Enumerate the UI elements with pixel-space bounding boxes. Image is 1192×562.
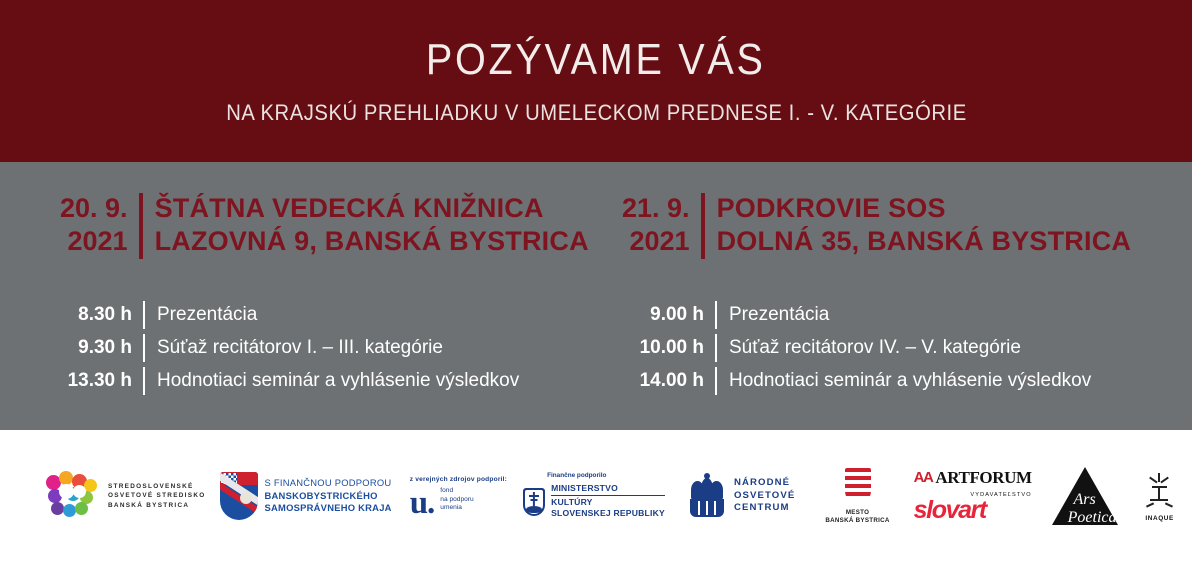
schedule-row: 13.30 h Hodnotiaci seminár a vyhlásenie … (60, 364, 519, 397)
bbsk-line2: BANSKOBYSTRICKÉHO (265, 490, 392, 503)
mksr-line2: KULTÚRY (551, 495, 665, 509)
bbsk-coat-of-arms-icon (220, 472, 258, 520)
header-band: POZÝVAME VÁS NA KRAJSKÚ PREHLIADKU V UME… (0, 0, 1192, 162)
venue: PODKROVIE SOS DOLNÁ 35, BANSKÁ BYSTRICA (717, 192, 1132, 258)
schedule-time: 9.00 h (622, 305, 704, 324)
ssos-line1: STREDOSLOVENSKÉ (108, 482, 206, 492)
venue: ŠTÁTNA VEDECKÁ KNIŽNICA LAZOVNÁ 9, BANSK… (155, 192, 589, 258)
artforum-lockup: AA ARTFORUM (914, 469, 1032, 486)
bbsk-line3: SAMOSPRÁVNEHO KRAJA (265, 502, 392, 515)
schedule-divider (143, 334, 145, 362)
slovak-coat-of-arms-icon (523, 488, 545, 516)
date-divider (139, 193, 143, 259)
schedule-band: 20. 9. 2021 ŠTÁTNA VEDECKÁ KNIŽNICA LAZO… (0, 162, 1192, 430)
footer-band: STREDOSLOVENSKÉ OSVETOVÉ STREDISKO BANSK… (0, 430, 1192, 562)
poster-root: POZÝVAME VÁS NA KRAJSKÚ PREHLIADKU V UME… (0, 0, 1192, 562)
schedule-divider (715, 367, 717, 395)
schedule-row: 9.30 h Súťaž recitátorov I. – III. kateg… (60, 331, 519, 364)
mesto-bb-line1: MESTO (825, 509, 889, 517)
schedule-column-day1: 20. 9. 2021 ŠTÁTNA VEDECKÁ KNIŽNICA LAZO… (0, 162, 596, 430)
logo-banskobystricky-kraj: S FINANČNOU PODPOROU BANSKOBYSTRICKÉHO S… (220, 472, 392, 520)
schedule-time: 14.00 h (622, 371, 704, 390)
mksr-label: MINISTERSTVO KULTÚRY SLOVENSKEJ REPUBLIK… (551, 483, 665, 520)
date-divider (701, 193, 705, 259)
schedule-time: 13.30 h (60, 371, 132, 390)
triangle-script-name: Ars Poetica (1068, 491, 1102, 527)
venue-address: LAZOVNÁ 9, BANSKÁ BYSTRICA (155, 225, 589, 258)
schedule-list: 9.00 h Prezentácia 10.00 h Súťaž recitát… (622, 298, 1091, 397)
schedule-desc: Súťaž recitátorov IV. – V. kategórie (729, 338, 1021, 357)
logo-artforum-slovart: AA ARTFORUM VYDAVATEĽSTVO slovart (914, 469, 1032, 523)
mesto-bb-label: MESTO BANSKÁ BYSTRICA (825, 509, 889, 525)
logo-inaque: INAQUE (1140, 470, 1180, 522)
date-venue-block: 20. 9. 2021 ŠTÁTNA VEDECKÁ KNIŽNICA LAZO… (60, 192, 589, 259)
artforum-mark-icon: AA (914, 470, 933, 485)
sponsor-logo-strip: STREDOSLOVENSKÉ OSVETOVÉ STREDISKO BANSK… (46, 430, 1156, 562)
schedule-divider (715, 334, 717, 362)
inaque-name: INAQUE (1145, 515, 1173, 522)
date-venue-block: 21. 9. 2021 PODKROVIE SOS DOLNÁ 35, BANS… (622, 192, 1131, 259)
bbsk-line1: S FINANČNOU PODPOROU (265, 477, 392, 490)
schedule-desc: Hodnotiaci seminár a vyhlásenie výsledko… (157, 371, 519, 390)
schedule-divider (715, 301, 717, 329)
venue-name: PODKROVIE SOS (717, 192, 1132, 225)
noc-line1: NÁRODNÉ (734, 477, 795, 489)
schedule-divider (143, 367, 145, 395)
fpu-line3: umenia (440, 504, 473, 512)
schedule-time: 10.00 h (622, 338, 704, 357)
date-year: 2021 (622, 225, 690, 258)
inaque-mark-icon (1140, 470, 1180, 512)
fpu-line1: fond (440, 487, 473, 495)
schedule-time: 9.30 h (60, 338, 132, 357)
mksr-line3: SLOVENSKEJ REPUBLIKY (551, 508, 665, 520)
logo-narodne-osvetove-centrum: NÁRODNÉ OSVETOVÉ CENTRUM (687, 473, 795, 519)
ssos-line3: BANSKÁ BYSTRICA (108, 501, 206, 511)
page-title: POZÝVAME VÁS (426, 38, 766, 82)
mesto-bb-coat-of-arms-icon (845, 468, 871, 504)
date-numbers: 20. 9. 2021 (60, 192, 128, 258)
date-year: 2021 (60, 225, 128, 258)
ssos-label: STREDOSLOVENSKÉ OSVETOVÉ STREDISKO BANSK… (108, 482, 206, 511)
schedule-time: 8.30 h (60, 305, 132, 324)
fpu-mark-icon: u. (410, 490, 435, 516)
triangle-icon: Ars Poetica (1052, 467, 1118, 525)
schedule-list: 8.30 h Prezentácia 9.30 h Súťaž recitáto… (60, 298, 519, 397)
noc-emblem-icon (687, 473, 727, 519)
ssos-line2: OSVETOVÉ STREDISKO (108, 491, 206, 501)
fpu-line2: na podporu (440, 496, 473, 504)
venue-address: DOLNÁ 35, BANSKÁ BYSTRICA (717, 225, 1132, 258)
logo-fond-na-podporu-umenia: z verejných zdrojov podporil: u. fond na… (410, 476, 507, 515)
noc-line2: OSVETOVÉ (734, 490, 795, 502)
artforum-name: ARTFORUM (935, 469, 1031, 486)
logo-mesto-banska-bystrica: MESTO BANSKÁ BYSTRICA (825, 468, 889, 525)
schedule-desc: Prezentácia (157, 305, 257, 324)
schedule-row: 14.00 h Hodnotiaci seminár a vyhlásenie … (622, 364, 1091, 397)
mksr-line1: MINISTERSTVO (551, 483, 665, 495)
schedule-columns: 20. 9. 2021 ŠTÁTNA VEDECKÁ KNIŽNICA LAZO… (0, 162, 1192, 430)
date-day: 21. 9. (622, 192, 690, 225)
schedule-column-day2: 21. 9. 2021 PODKROVIE SOS DOLNÁ 35, BANS… (596, 162, 1192, 430)
ssos-mark-icon (46, 471, 102, 521)
page-subtitle: NA KRAJSKÚ PREHLIADKU V UMELECKOM PREDNE… (226, 102, 967, 124)
bbsk-label: S FINANČNOU PODPOROU BANSKOBYSTRICKÉHO S… (265, 477, 392, 515)
fpu-label: fond na podporu umenia (440, 487, 473, 512)
schedule-divider (143, 301, 145, 329)
logo-stredoslovenske-osvetove-stredisko: STREDOSLOVENSKÉ OSVETOVÉ STREDISKO BANSK… (46, 471, 206, 521)
schedule-desc: Hodnotiaci seminár a vyhlásenie výsledko… (729, 371, 1091, 390)
logo-ministerstvo-kultury: Finančne podporilo MINISTERSTVO KULTÚRY … (523, 472, 665, 520)
schedule-row: 9.00 h Prezentácia (622, 298, 1091, 331)
venue-name: ŠTÁTNA VEDECKÁ KNIŽNICA (155, 192, 589, 225)
date-numbers: 21. 9. 2021 (622, 192, 690, 258)
schedule-desc: Súťaž recitátorov I. – III. kategórie (157, 338, 443, 357)
fpu-top-label: z verejných zdrojov podporil: (410, 476, 507, 483)
noc-line3: CENTRUM (734, 502, 795, 514)
noc-label: NÁRODNÉ OSVETOVÉ CENTRUM (734, 477, 795, 514)
schedule-row: 10.00 h Súťaž recitátorov IV. – V. kateg… (622, 331, 1091, 364)
date-day: 20. 9. (60, 192, 128, 225)
logo-ars-poetica-triangle: Ars Poetica (1052, 467, 1118, 525)
schedule-desc: Prezentácia (729, 305, 829, 324)
mesto-bb-line2: BANSKÁ BYSTRICA (825, 517, 889, 525)
schedule-row: 8.30 h Prezentácia (60, 298, 519, 331)
slovart-name: slovart (914, 498, 986, 523)
mksr-top-label: Finančne podporilo (547, 472, 606, 479)
